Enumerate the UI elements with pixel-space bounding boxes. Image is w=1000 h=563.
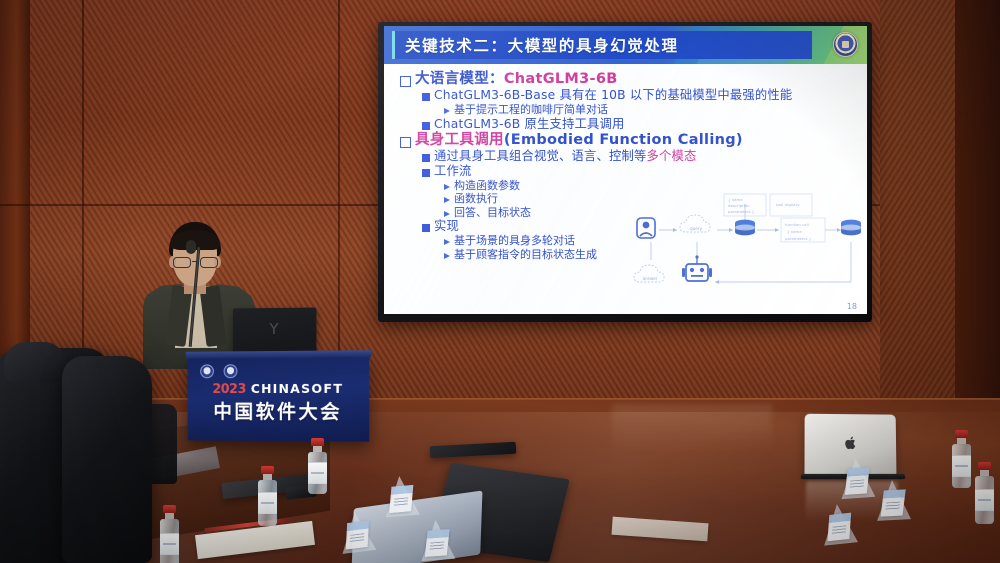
svg-text:parameters }: parameters } — [728, 209, 754, 214]
bottle-body — [975, 476, 994, 524]
name-card — [389, 485, 413, 513]
bullet-text-span: 实现 — [434, 219, 459, 233]
robot-icon — [682, 255, 712, 281]
svg-text:answer: answer — [642, 276, 657, 281]
podium-logo-2-icon — [224, 364, 238, 378]
slide-title-band: 关键技术二：大模型的具身幻觉处理 — [392, 31, 812, 59]
bullet-marker-icon — [400, 137, 411, 148]
bottle-body — [258, 480, 277, 526]
bottle-label — [952, 455, 971, 477]
slide-page-number: 18 — [847, 302, 857, 311]
bottle-body — [160, 519, 179, 563]
bullet-text-span: ChatGLM3-6B 原生支持工具调用 — [434, 117, 625, 131]
function-calling-flow-diagram: query answer — [629, 190, 861, 298]
slide-bullet-level-1: 大语言模型：ChatGLM3-6B — [400, 72, 857, 87]
slide-bullet-level-1: 具身工具调用(Embodied Function Calling) — [400, 133, 857, 148]
bottle-cap — [163, 505, 176, 513]
bullet-text: 大语言模型：ChatGLM3-6B — [415, 72, 618, 87]
bottle-label — [308, 462, 327, 484]
bullet-marker-icon — [422, 122, 430, 130]
wall-far-right-edge — [955, 0, 1000, 430]
bullet-text-span: 基于顾客指令的目标状态生成 — [454, 248, 597, 261]
lens-right — [200, 257, 218, 268]
bullet-marker-icon — [422, 169, 430, 177]
bottle-cap — [311, 438, 324, 446]
cloud-icon-answer: answer — [634, 265, 664, 282]
bullet-marker-icon — [422, 154, 430, 162]
bullet-text: 基于场景的具身多轮对话 — [454, 235, 575, 247]
slide-title: 关键技术二：大模型的具身幻觉处理 — [405, 34, 679, 56]
lens-left — [173, 257, 191, 268]
podium-top-edge — [186, 350, 372, 358]
bullet-text-span: 基于提示工程的咖啡厅简单对话 — [454, 103, 608, 116]
database-icon-2 — [841, 220, 861, 236]
bullet-text: 具身工具调用(Embodied Function Calling) — [415, 133, 743, 148]
slide-bullet-level-2: ChatGLM3-6B-Base 具有在 10B 以下的基础模型中最强的性能 — [422, 89, 857, 102]
bullet-marker-icon — [444, 197, 450, 203]
bullet-marker-icon — [444, 184, 450, 190]
svg-text:{ name: { name — [728, 197, 743, 202]
bullet-marker-icon — [444, 253, 450, 259]
bullet-text: 基于提示工程的咖啡厅简单对话 — [454, 104, 608, 116]
bottle-body — [952, 444, 971, 488]
slide-body: 大语言模型：ChatGLM3-6BChatGLM3-6B-Base 具有在 10… — [384, 64, 867, 314]
person-icon — [637, 218, 655, 238]
microphone-head — [186, 240, 196, 254]
slide-bullet-level-3: 基于提示工程的咖啡厅简单对话 — [444, 104, 857, 116]
conference-podium: 2023 CHINASOFT 中国软件大会 — [188, 355, 370, 441]
bullet-text: 工作流 — [434, 165, 472, 178]
podium-logos — [200, 364, 237, 378]
podium-chinese-title: 中国软件大会 — [188, 397, 370, 424]
bullet-text: ChatGLM3-6B 原生支持工具调用 — [434, 118, 625, 131]
bottle-label — [975, 489, 994, 511]
name-card-holder — [382, 475, 419, 518]
university-emblem-icon — [833, 32, 858, 57]
bullet-text-span: ChatGLM3-6B-Base 具有在 10B 以下的基础模型中最强的性能 — [434, 88, 792, 102]
name-card-holder — [839, 457, 876, 499]
svg-text:function call: function call — [785, 222, 809, 227]
water-bottle — [308, 438, 327, 494]
bullet-text-span: 大语言模型： — [415, 71, 504, 87]
bullet-marker-icon — [400, 76, 411, 87]
name-card — [425, 529, 450, 557]
bullet-text-span: 具身工具调用 — [415, 132, 504, 148]
bottle-label — [160, 533, 179, 555]
bullet-text: 基于顾客指令的目标状态生成 — [454, 249, 597, 261]
svg-text:query: query — [690, 226, 703, 231]
bullet-text-span: 基于场景的具身多轮对话 — [454, 234, 575, 247]
bullet-text-span: 函数执行 — [454, 192, 498, 205]
podium-title-line-1: 2023 CHINASOFT — [188, 381, 370, 397]
presentation-screen: 关键技术二：大模型的具身幻觉处理 大语言模型：ChatGLM3-6BChatGL… — [384, 26, 867, 314]
name-card-holder — [338, 510, 377, 554]
water-bottle — [160, 505, 179, 563]
table-reflection-screen — [612, 404, 772, 454]
bullet-marker-icon — [422, 93, 430, 101]
bottle-cap — [261, 466, 274, 474]
bullet-marker-icon — [422, 224, 430, 232]
podium-year: 2023 — [212, 382, 246, 397]
bullet-text: ChatGLM3-6B-Base 具有在 10B 以下的基础模型中最强的性能 — [434, 89, 792, 102]
bullet-marker-icon — [444, 239, 450, 245]
cloud-icon-query: query — [680, 215, 710, 232]
podium-logo-1-icon — [200, 364, 214, 378]
bullet-text: 构造函数参数 — [454, 180, 520, 192]
name-card — [881, 489, 906, 516]
bullet-text: 函数执行 — [454, 193, 498, 205]
name-card — [845, 467, 870, 495]
legion-y-logo: Y — [269, 320, 278, 338]
chair-headrest — [4, 342, 66, 382]
bullet-marker-icon — [444, 108, 450, 114]
bullet-text-span: 通过具身工具组合视觉、语言、控制等 — [434, 149, 646, 163]
podium-english-title: CHINASOFT — [251, 381, 343, 396]
executive-chair-2 — [62, 356, 152, 563]
slide-header: 关键技术二：大模型的具身幻觉处理 — [384, 26, 867, 64]
database-icon-1 — [735, 220, 755, 236]
water-bottle — [258, 466, 277, 526]
bottle-body — [308, 452, 327, 494]
bullet-text-span: (Embodied Function Calling) — [504, 132, 743, 148]
svg-text:parameters }: parameters } — [785, 236, 811, 241]
bullet-text-span: 工作流 — [434, 164, 472, 178]
bullet-text-span: 多个模态 — [646, 149, 696, 163]
svg-text:{ name: { name — [787, 229, 802, 234]
bottle-cap — [955, 430, 968, 438]
water-bottle — [975, 462, 994, 524]
name-card-holder — [820, 502, 858, 545]
svg-text:description: description — [728, 203, 750, 208]
name-card — [346, 520, 369, 549]
bullet-text: 回答、目标状态 — [454, 207, 531, 219]
conference-room-photo: 关键技术二：大模型的具身幻觉处理 大语言模型：ChatGLM3-6BChatGL… — [0, 0, 1000, 563]
display-screen-bezel: 关键技术二：大模型的具身幻觉处理 大语言模型：ChatGLM3-6BChatGL… — [378, 22, 872, 322]
slide-bullet-level-2: 通过具身工具组合视觉、语言、控制等多个模态 — [422, 150, 857, 163]
bullet-text-span: 回答、目标状态 — [454, 206, 531, 219]
bullet-text-span: 构造函数参数 — [454, 179, 520, 192]
slide-bullet-level-2: 工作流 — [422, 165, 857, 178]
bullet-marker-icon — [444, 211, 450, 217]
slide-bullet-level-2: ChatGLM3-6B 原生支持工具调用 — [422, 118, 857, 131]
name-card-holder — [419, 519, 456, 561]
name-card — [827, 513, 851, 542]
bullet-text: 通过具身工具组合视觉、语言、控制等多个模态 — [434, 150, 696, 163]
water-bottle — [952, 430, 971, 488]
svg-text:tool registry: tool registry — [776, 202, 800, 207]
bullet-text-span: ChatGLM3-6B — [504, 71, 618, 87]
apple-logo-icon — [844, 435, 857, 450]
bottle-label — [258, 492, 277, 514]
name-card-holder — [875, 479, 911, 521]
bottle-cap — [978, 462, 991, 470]
bullet-text: 实现 — [434, 220, 459, 233]
